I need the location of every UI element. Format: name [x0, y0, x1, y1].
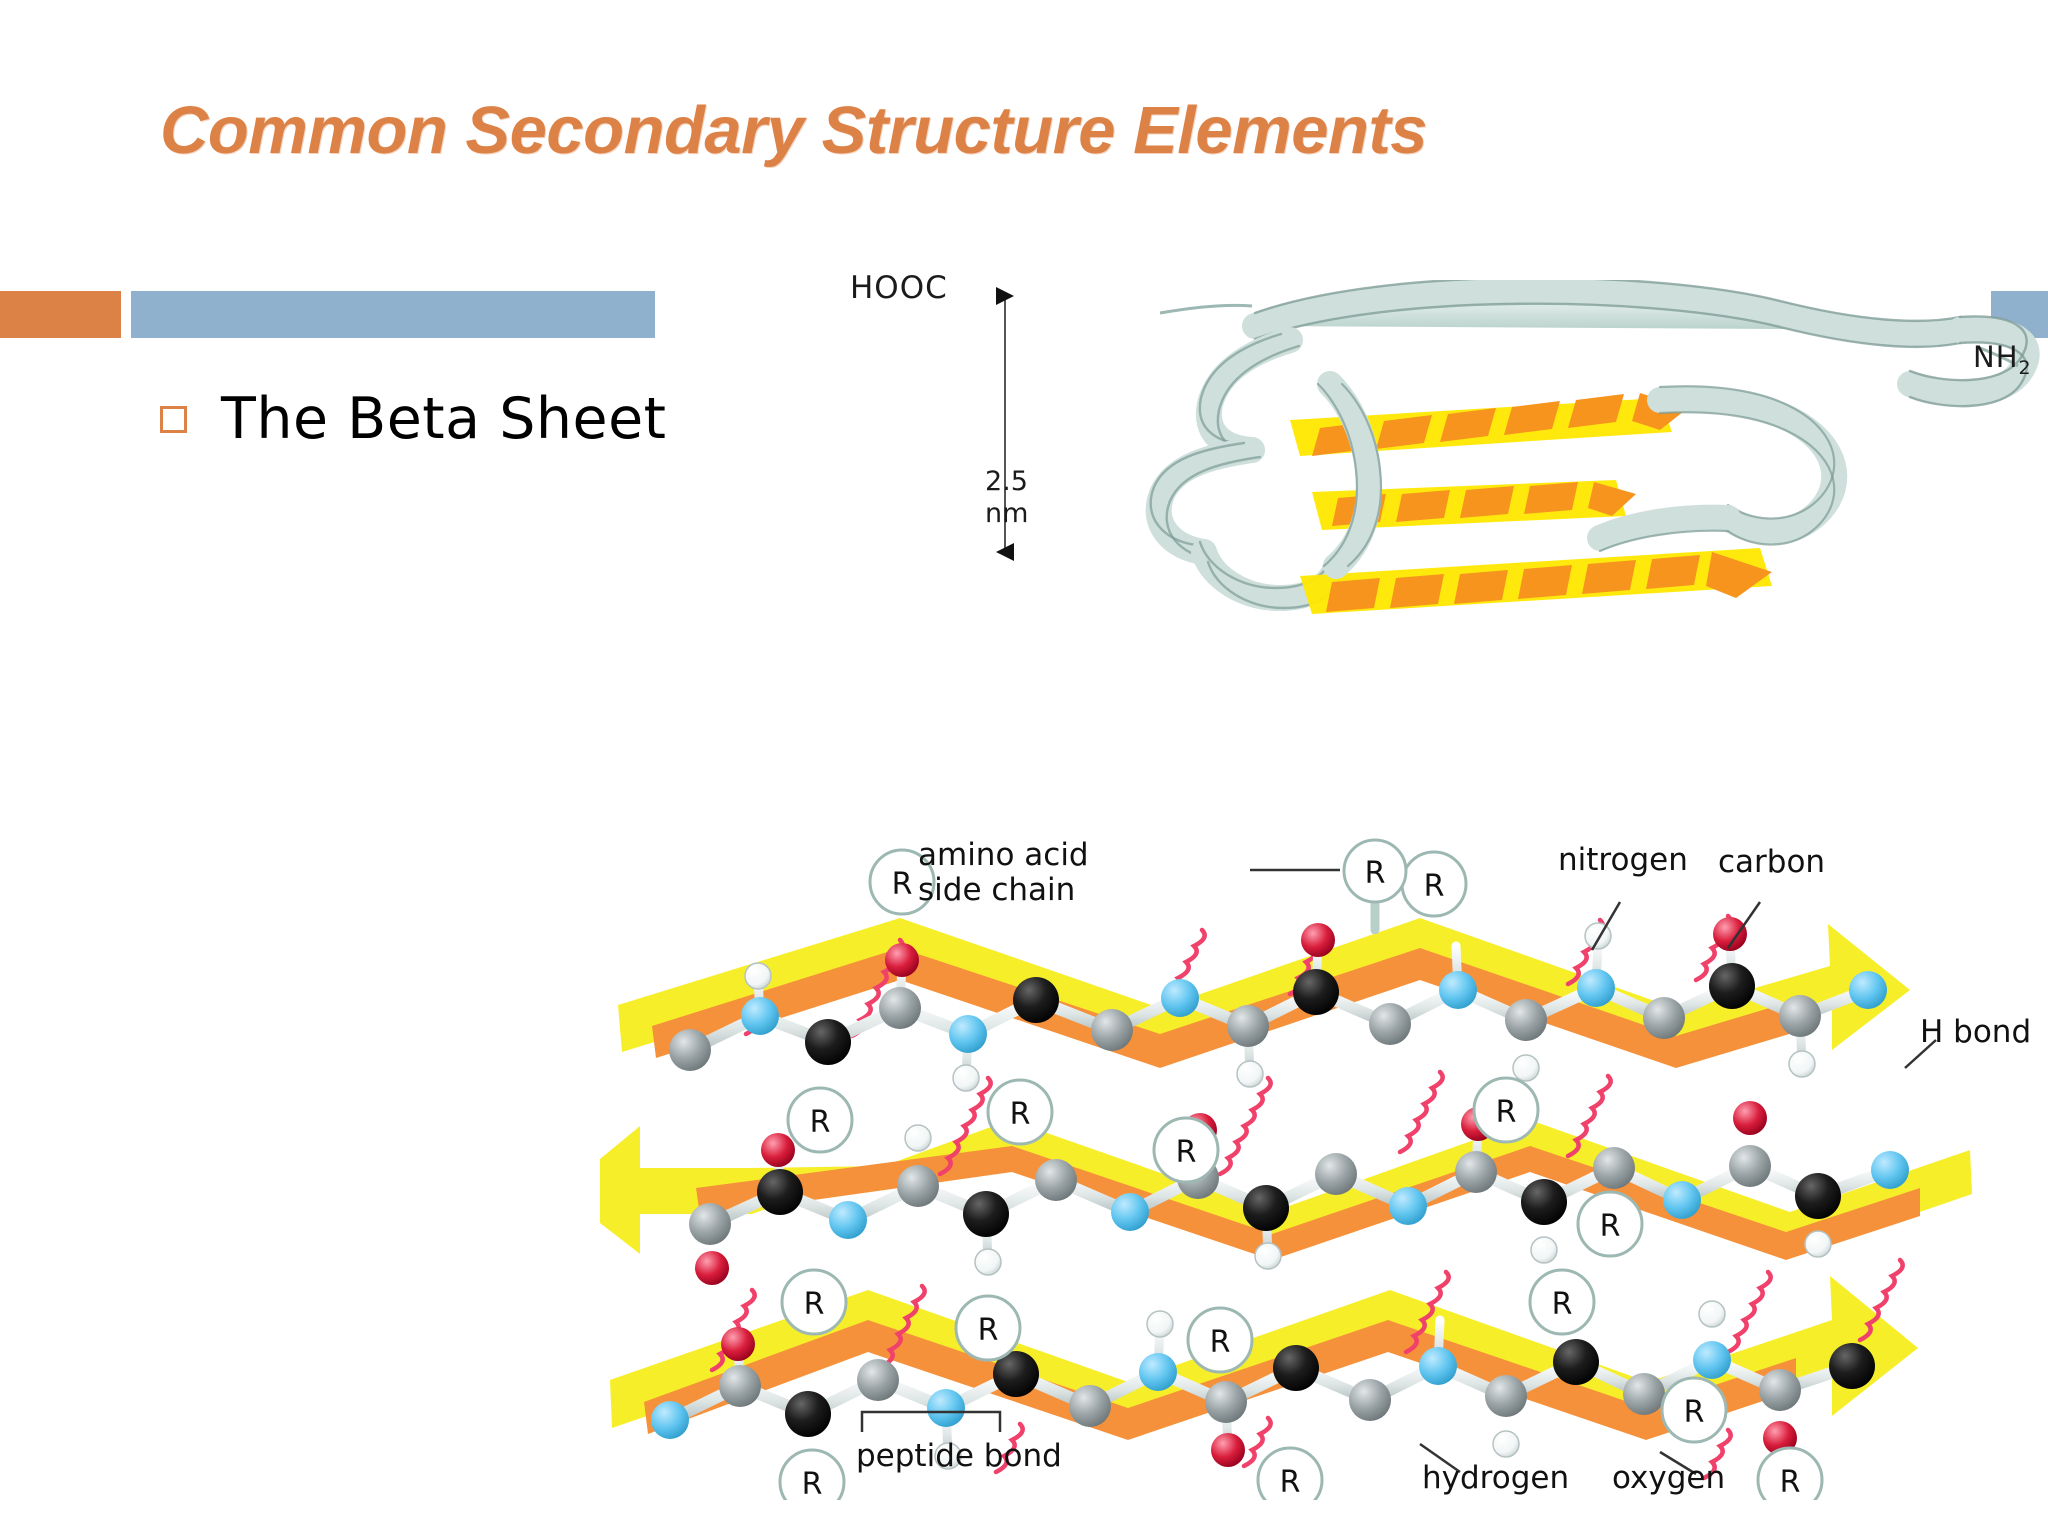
atom-carbon	[1593, 1147, 1635, 1189]
atom-carbon	[1505, 999, 1547, 1041]
atom-carbon	[1729, 1145, 1771, 1187]
atom-nitrogen	[1419, 1347, 1457, 1385]
h-bond-label: H bond	[1920, 1014, 2031, 1050]
atom-nitrogen	[927, 1389, 965, 1427]
residue-circle: R	[1258, 1448, 1322, 1500]
atom-nitrogen	[1111, 1193, 1149, 1231]
atom-carbon	[1315, 1153, 1357, 1195]
atom-carbon-dark	[963, 1191, 1009, 1237]
atom-hydrogen	[1699, 1301, 1725, 1327]
atom-carbon	[1069, 1385, 1111, 1427]
svg-text:R: R	[802, 1467, 823, 1500]
residue-circle: R	[1758, 1448, 1822, 1500]
residue-circle: R	[1402, 852, 1466, 916]
atom-carbon	[1369, 1003, 1411, 1045]
residue-circle: R	[782, 1270, 846, 1334]
title-underline-blue	[131, 291, 655, 338]
atom-carbon	[1091, 1009, 1133, 1051]
atom-nitrogen	[1693, 1341, 1731, 1379]
svg-text:R: R	[804, 1287, 825, 1322]
svg-text:R: R	[1176, 1135, 1197, 1170]
page-title: Common Secondary Structure Elements	[160, 92, 1427, 169]
atom-hydrogen	[975, 1249, 1001, 1275]
svg-text:R: R	[1600, 1209, 1621, 1244]
atom-carbon-dark	[805, 1019, 851, 1065]
atom-carbon-dark	[1243, 1185, 1289, 1231]
atom-carbon-dark	[1829, 1343, 1875, 1389]
svg-text:R: R	[1010, 1097, 1031, 1132]
hydrogen-label: hydrogen	[1422, 1460, 1569, 1496]
atom-oxygen	[1211, 1433, 1245, 1467]
residue-glyph: R	[1365, 856, 1386, 891]
residue-circle: R	[988, 1080, 1052, 1144]
svg-text:R: R	[1552, 1287, 1573, 1322]
peptide-bond-label: peptide bond	[856, 1438, 1062, 1474]
square-bullet-icon	[160, 406, 187, 433]
atom-nitrogen	[1871, 1151, 1909, 1189]
atom-carbon	[879, 987, 921, 1029]
residue-circle: R	[956, 1296, 1020, 1360]
residue-circle: R	[1474, 1078, 1538, 1142]
atom-carbon	[719, 1365, 761, 1407]
atom-carbon-dark	[1521, 1179, 1567, 1225]
atom-nitrogen	[1849, 971, 1887, 1009]
atom-hydrogen	[1789, 1051, 1815, 1077]
svg-text:R: R	[810, 1105, 831, 1140]
atom-carbon	[1035, 1159, 1077, 1201]
atom-nitrogen	[1577, 969, 1615, 1007]
atom-nitrogen	[651, 1401, 689, 1439]
atom-hydrogen	[1513, 1055, 1539, 1081]
atom-carbon-dark	[1709, 963, 1755, 1009]
atom-carbon	[689, 1203, 731, 1245]
atom-nitrogen	[741, 997, 779, 1035]
atom-hydrogen	[953, 1065, 979, 1091]
globular-protein-figure: HOOC NH2	[960, 280, 2040, 700]
atom-oxygen	[1733, 1101, 1767, 1135]
side-chain-label: amino acid side chain	[918, 838, 1089, 907]
atom-hydrogen	[1585, 923, 1611, 949]
atom-hydrogen	[1237, 1061, 1263, 1087]
atom-oxygen	[885, 943, 919, 977]
atom-carbon	[1779, 995, 1821, 1037]
c-terminus-label: HOOC	[850, 270, 948, 306]
atom-oxygen	[721, 1327, 755, 1361]
residue-circle: R	[1578, 1192, 1642, 1256]
svg-text:R: R	[1280, 1465, 1301, 1500]
atom-hydrogen	[1255, 1243, 1281, 1269]
dimension-value: 2.5	[985, 466, 1028, 498]
atom-oxygen	[761, 1133, 795, 1167]
atom-carbon-dark	[757, 1169, 803, 1215]
atom-carbon	[1759, 1369, 1801, 1411]
atom-carbon	[1455, 1151, 1497, 1193]
carbon-label: carbon	[1718, 844, 1825, 880]
title-underline-orange	[0, 291, 121, 338]
atom-nitrogen	[1663, 1181, 1701, 1219]
svg-text:R: R	[978, 1313, 999, 1348]
residue-circle: R	[788, 1088, 852, 1152]
n-terminus-subscript: 2	[2019, 357, 2032, 379]
atom-carbon-dark	[1293, 969, 1339, 1015]
atom-hydrogen	[905, 1125, 931, 1151]
atom-carbon	[1485, 1375, 1527, 1417]
atom-hydrogen	[1493, 1431, 1519, 1457]
atom-carbon	[857, 1359, 899, 1401]
svg-text:R: R	[892, 867, 913, 902]
atom-carbon-dark	[1553, 1339, 1599, 1385]
svg-text:R: R	[1424, 869, 1445, 904]
svg-text:R: R	[1684, 1395, 1705, 1430]
atom-carbon	[1227, 1005, 1269, 1047]
internal-beta-strand-lower	[1300, 548, 1772, 614]
atom-nitrogen	[1161, 979, 1199, 1017]
atom-carbon	[897, 1165, 939, 1207]
side-chain-residue-circle: R	[1340, 838, 1410, 934]
atom-carbon	[669, 1029, 711, 1071]
side-chain-label-line2: side chain	[918, 873, 1089, 908]
atom-carbon-dark	[1795, 1173, 1841, 1219]
nitrogen-label: nitrogen	[1558, 842, 1688, 878]
n-terminus-text: NH	[1973, 340, 2019, 374]
svg-text:R: R	[1496, 1095, 1517, 1130]
residue-circle: R	[1662, 1378, 1726, 1442]
residue-circle: R	[1530, 1270, 1594, 1334]
atom-carbon-dark	[1013, 977, 1059, 1023]
atom-hydrogen	[1805, 1231, 1831, 1257]
dimension-unit: nm	[985, 498, 1028, 530]
atom-carbon-dark	[785, 1391, 831, 1437]
bullet-label: The Beta Sheet	[221, 386, 667, 452]
side-chain-label-line1: amino acid	[918, 838, 1089, 873]
dimension-label: 2.5 nm	[985, 466, 1028, 530]
residue-circle: R	[1188, 1308, 1252, 1372]
c-terminus-leader	[1160, 305, 1252, 313]
atom-carbon	[1205, 1381, 1247, 1423]
atom-oxygen	[1301, 923, 1335, 957]
atom-nitrogen	[949, 1015, 987, 1053]
atom-carbon	[1623, 1373, 1665, 1415]
atom-hydrogen	[745, 963, 771, 989]
atom-hydrogen	[1531, 1237, 1557, 1263]
residue-circle: R	[1154, 1118, 1218, 1182]
list-item: The Beta Sheet	[160, 386, 667, 452]
atom-oxygen	[695, 1251, 729, 1285]
atom-carbon	[1643, 997, 1685, 1039]
oxygen-label: oxygen	[1612, 1460, 1725, 1496]
atom-nitrogen	[1389, 1187, 1427, 1225]
beta-sheet-figure: R R R R R R R R R R R R R R R	[600, 820, 2048, 1500]
atom-hydrogen	[1147, 1311, 1173, 1337]
atom-carbon-dark	[1273, 1345, 1319, 1391]
atom-nitrogen	[829, 1201, 867, 1239]
atom-nitrogen	[1139, 1353, 1177, 1391]
atom-nitrogen	[1439, 971, 1477, 1009]
atom-carbon	[1349, 1379, 1391, 1421]
n-terminus-label: NH2	[1973, 340, 2032, 379]
residue-circle: R	[780, 1450, 844, 1500]
svg-text:R: R	[1780, 1465, 1801, 1500]
svg-text:R: R	[1210, 1325, 1231, 1360]
